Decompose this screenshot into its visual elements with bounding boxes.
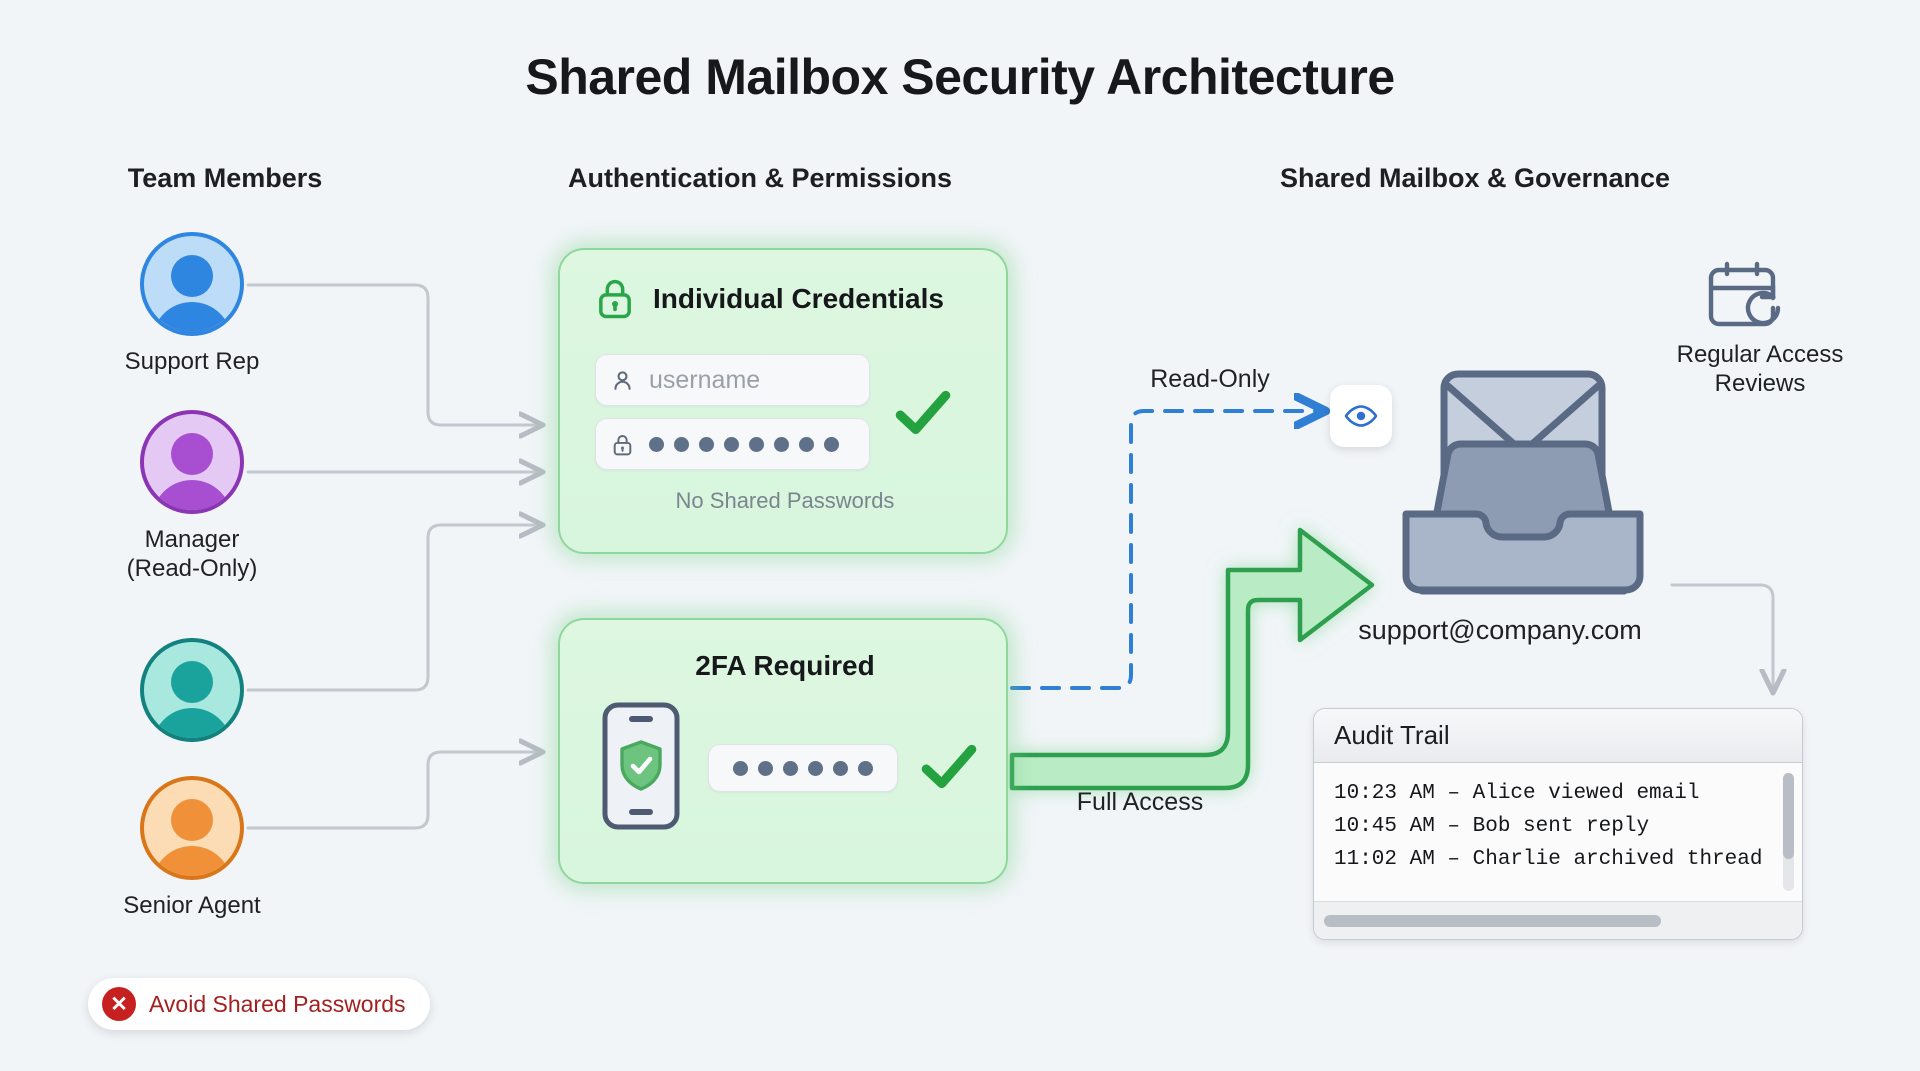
audit-vertical-scrollbar[interactable] xyxy=(1783,773,1794,891)
card-title: Individual Credentials xyxy=(653,283,944,315)
no-shared-passwords-note: No Shared Passwords xyxy=(560,488,1010,514)
username-input[interactable]: username xyxy=(595,354,870,406)
check-icon xyxy=(892,386,954,440)
lock-icon xyxy=(595,276,635,322)
eye-icon xyxy=(1344,404,1378,428)
full-access-flow-label: Full Access xyxy=(1020,788,1260,817)
inbox-tray-envelope-icon xyxy=(1378,366,1668,601)
team-member-agent[interactable] xyxy=(82,638,302,742)
user-avatar-icon xyxy=(140,410,244,514)
avoid-shared-passwords-badge[interactable]: ✕ Avoid Shared Passwords xyxy=(88,978,430,1030)
individual-credentials-card[interactable]: Individual Credentials username xyxy=(558,248,1008,554)
password-input[interactable] xyxy=(595,418,870,470)
team-member-label: Senior Agent xyxy=(82,891,302,920)
user-avatar-icon xyxy=(140,232,244,336)
username-placeholder: username xyxy=(649,366,760,395)
user-avatar-icon xyxy=(140,638,244,742)
team-member-label: Support Rep xyxy=(82,347,302,376)
card-title: 2FA Required xyxy=(560,650,1010,682)
audit-trail-entry: 10:23 AM – Alice viewed email xyxy=(1334,777,1802,810)
governance-label-line1: Regular Access xyxy=(1610,340,1910,369)
audit-trail-panel[interactable]: Audit Trail 10:23 AM – Alice viewed emai… xyxy=(1313,708,1803,940)
page-title: Shared Mailbox Security Architecture xyxy=(0,48,1920,106)
check-icon xyxy=(918,740,980,794)
audit-trail-entry: 11:02 AM – Charlie archived thread xyxy=(1334,843,1802,876)
diagram-canvas: Shared Mailbox Security Architecture Tea… xyxy=(0,0,1920,1071)
twofa-masked-value xyxy=(733,761,873,776)
read-only-flow-label: Read-Only xyxy=(1100,365,1320,394)
lock-small-icon xyxy=(610,432,635,457)
user-avatar-icon xyxy=(140,776,244,880)
audit-trail-header: Audit Trail xyxy=(1314,709,1802,763)
audit-trail-body: 10:23 AM – Alice viewed email 10:45 AM –… xyxy=(1314,763,1802,903)
audit-trail-entry: 10:45 AM – Bob sent reply xyxy=(1334,810,1802,843)
team-member-sublabel: (Read-Only) xyxy=(82,554,302,583)
twofa-code-input[interactable] xyxy=(708,744,898,792)
team-member-support-rep[interactable]: Support Rep xyxy=(82,232,302,376)
column-header-authentication: Authentication & Permissions xyxy=(480,163,1040,194)
password-masked-value xyxy=(649,437,839,452)
twofa-required-card[interactable]: 2FA Required xyxy=(558,618,1008,884)
team-member-senior-agent[interactable]: Senior Agent xyxy=(82,776,302,920)
user-icon xyxy=(610,368,635,393)
column-header-shared-mailbox: Shared Mailbox & Governance xyxy=(1180,163,1770,194)
team-member-manager[interactable]: Manager (Read-Only) xyxy=(82,410,302,584)
warning-label: Avoid Shared Passwords xyxy=(149,991,406,1018)
x-circle-icon: ✕ xyxy=(102,987,136,1021)
column-header-team-members: Team Members xyxy=(60,163,390,194)
phone-shield-check-icon xyxy=(602,702,680,830)
mailbox-address: support@company.com xyxy=(1290,615,1710,646)
audit-horizontal-scrollbar[interactable] xyxy=(1314,901,1802,939)
governance-label-line2: Reviews xyxy=(1610,369,1910,398)
calendar-refresh-icon xyxy=(1702,258,1792,338)
team-member-label: Manager xyxy=(82,525,302,554)
